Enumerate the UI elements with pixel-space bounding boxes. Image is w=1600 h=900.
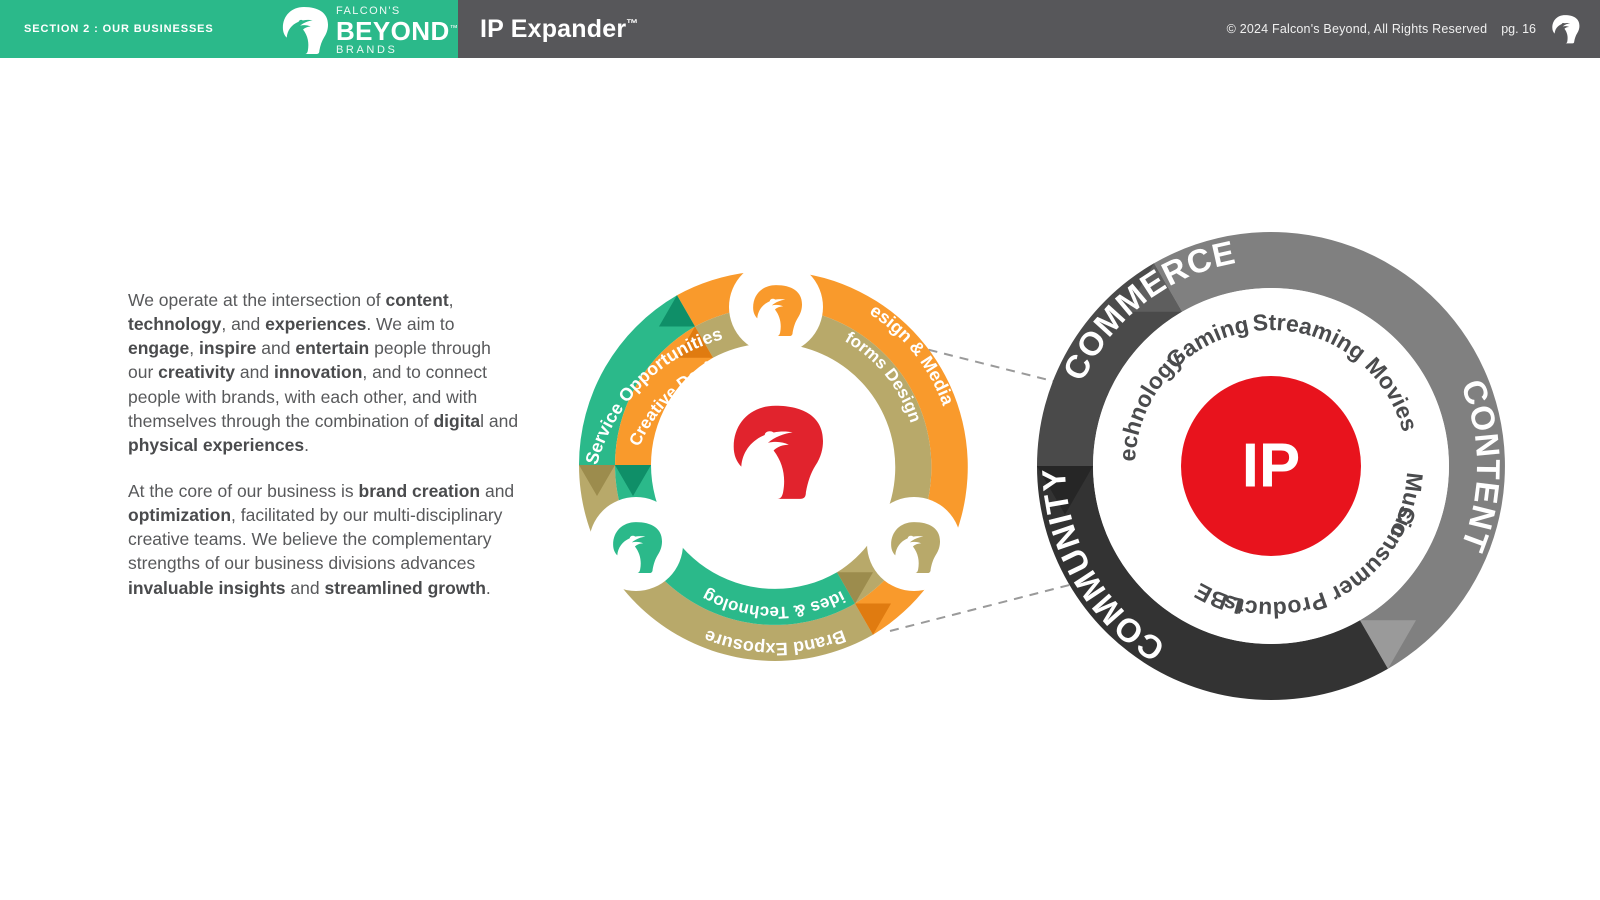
brand-logo: FALCON'S BEYOND™ BRANDS xyxy=(280,4,458,56)
diagram-svg: Service Opportunities Design & Media Bra… xyxy=(0,58,1600,900)
flywheel-hub-falcon-head-icon xyxy=(734,406,823,499)
diagram-stage: Service Opportunities Design & Media Bra… xyxy=(0,58,1600,900)
brand-line-brands: BRANDS xyxy=(336,45,458,56)
page-number: pg. 16 xyxy=(1501,22,1536,36)
page-title-tm-mark: ™ xyxy=(626,16,638,30)
label-design-and-media: Design & Media xyxy=(0,58,958,409)
page-header: SECTION 2 : OUR BUSINESSES FALCON'S BEYO… xyxy=(0,0,1600,58)
header-green-band: SECTION 2 : OUR BUSINESSES FALCON'S BEYO… xyxy=(0,0,458,58)
falcon-head-icon xyxy=(280,5,328,55)
falcon-head-icon xyxy=(1550,14,1580,44)
brand-tm-mark: ™ xyxy=(450,23,458,32)
ip-core-label: IP xyxy=(1242,432,1301,501)
flywheel-node-badge-bottom-left[interactable] xyxy=(589,497,683,591)
header-meta: © 2024 Falcon's Beyond, All Rights Reser… xyxy=(1227,14,1580,44)
flywheel-node-badge-bottom-right[interactable] xyxy=(867,497,961,591)
brand-wordmark: FALCON'S BEYOND™ BRANDS xyxy=(336,4,458,56)
brand-line-beyond: BEYOND™ xyxy=(336,18,458,44)
page-title: IP Expander™ xyxy=(480,15,638,44)
label-informs-design: Informs Design xyxy=(0,58,925,425)
flywheel-labels: Service Opportunities Design & Media Bra… xyxy=(0,58,958,659)
flywheel-node-badge-top[interactable] xyxy=(729,260,823,354)
copyright-text: © 2024 Falcon's Beyond, All Rights Reser… xyxy=(1227,22,1488,36)
business-flywheel-diagram: Service Opportunities Design & Media Bra… xyxy=(0,58,968,661)
section-label: SECTION 2 : OUR BUSINESSES xyxy=(24,23,214,35)
header-gray-band: IP Expander™ © 2024 Falcon's Beyond, All… xyxy=(458,0,1600,58)
